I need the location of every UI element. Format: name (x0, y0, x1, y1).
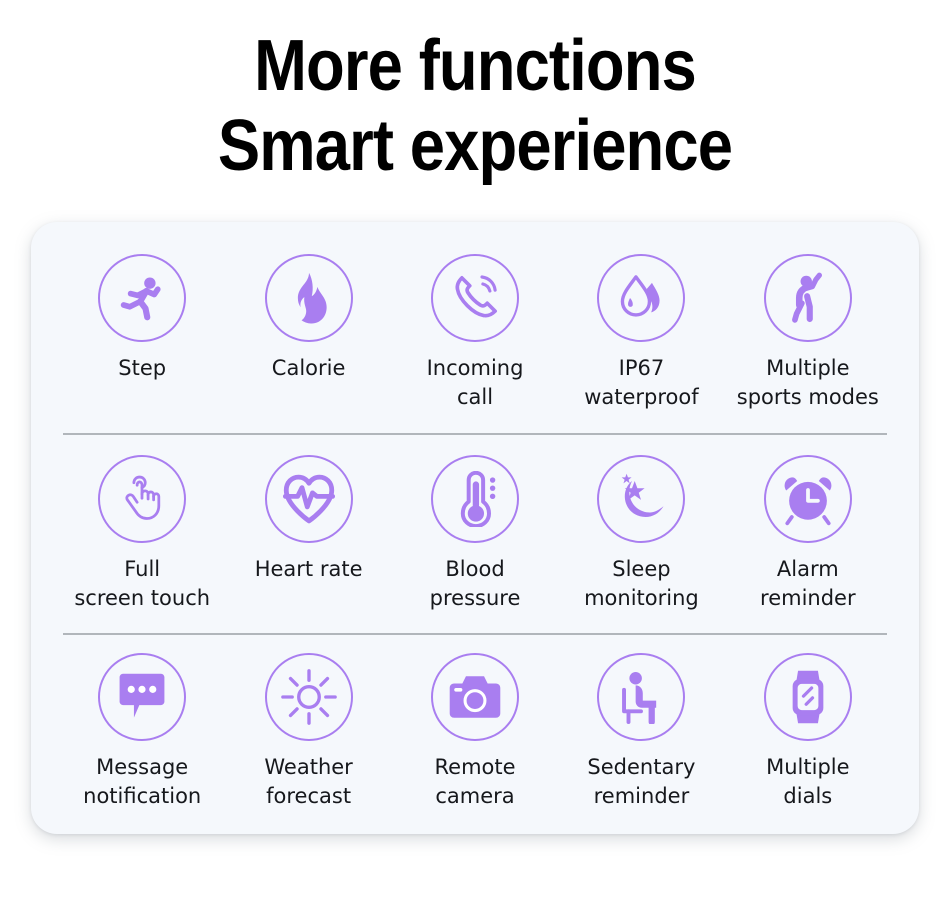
feature-item-blood-pressure[interactable]: Blood pressure (392, 455, 558, 613)
feature-item-sleep-monitoring[interactable]: Sleep monitoring (558, 455, 724, 613)
feature-label: Weather forecast (264, 753, 352, 811)
sitting-person-icon (597, 653, 685, 741)
feature-label: Remote camera (435, 753, 516, 811)
feature-item-remote-camera[interactable]: Remote camera (392, 653, 558, 811)
feature-item-alarm-reminder[interactable]: Alarm reminder (725, 455, 891, 613)
feature-label: Full screen touch (74, 555, 210, 613)
feature-item-calorie[interactable]: Calorie (225, 254, 391, 383)
smartwatch-icon (764, 653, 852, 741)
feature-item-multiple-dials[interactable]: Multiple dials (725, 653, 891, 811)
feature-label: Multiple dials (766, 753, 849, 811)
feature-label: Alarm reminder (760, 555, 856, 613)
feature-label: Message notification (83, 753, 201, 811)
feature-label: Sleep monitoring (584, 555, 699, 613)
feature-label: Incoming call (427, 354, 524, 412)
speech-bubble-icon (98, 653, 186, 741)
feature-item-sedentary-reminder[interactable]: Sedentary reminder (558, 653, 724, 811)
feature-item-heart-rate[interactable]: Heart rate (225, 455, 391, 584)
features-grid: Step Calorie (31, 222, 919, 834)
feature-row: Message notification (31, 635, 919, 834)
page-root: More functions Smart experience (0, 0, 950, 906)
feature-item-message-notification[interactable]: Message notification (59, 653, 225, 811)
feature-label: Calorie (272, 354, 346, 383)
feature-item-full-screen-touch[interactable]: Full screen touch (59, 455, 225, 613)
feature-label: Sedentary reminder (587, 753, 695, 811)
running-person-icon (98, 254, 186, 342)
phone-ringing-icon (431, 254, 519, 342)
feature-label: Heart rate (255, 555, 363, 584)
feature-label: Multiple sports modes (737, 354, 879, 412)
flame-icon (265, 254, 353, 342)
feature-row: Step Calorie (31, 222, 919, 435)
heart-pulse-icon (265, 455, 353, 543)
features-card: Step Calorie (31, 222, 919, 834)
stretching-person-icon (764, 254, 852, 342)
sun-icon (265, 653, 353, 741)
page-title-line-1: More functions (57, 26, 893, 106)
feature-label: IP67 waterproof (584, 354, 698, 412)
camera-icon (431, 653, 519, 741)
feature-item-ip67-waterproof[interactable]: IP67 waterproof (558, 254, 724, 412)
page-title-line-2: Smart experience (57, 106, 893, 186)
thermometer-icon (431, 455, 519, 543)
feature-label: Step (118, 354, 166, 383)
feature-label: Blood pressure (430, 555, 521, 613)
page-title: More functions Smart experience (57, 26, 893, 186)
water-drop-icon (597, 254, 685, 342)
alarm-clock-icon (764, 455, 852, 543)
feature-item-weather-forecast[interactable]: Weather forecast (225, 653, 391, 811)
feature-row: Full screen touch Heart rate (31, 435, 919, 636)
touch-hand-icon (98, 455, 186, 543)
feature-item-multiple-sports-modes[interactable]: Multiple sports modes (725, 254, 891, 412)
feature-item-incoming-call[interactable]: Incoming call (392, 254, 558, 412)
moon-stars-icon (597, 455, 685, 543)
feature-item-step[interactable]: Step (59, 254, 225, 383)
